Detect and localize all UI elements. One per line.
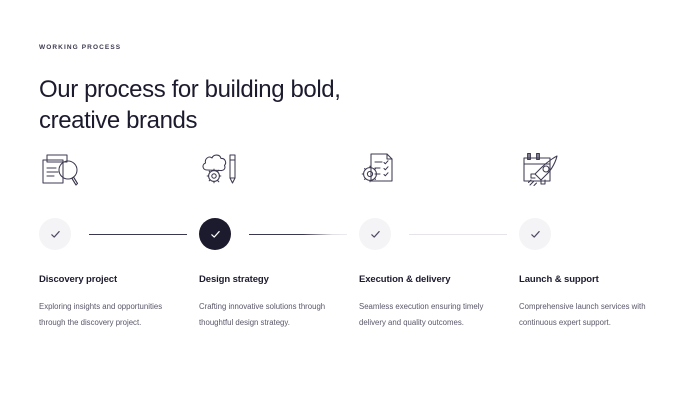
headline-line-1: Our process for building bold, [39, 74, 459, 106]
step-title: Execution & delivery [359, 274, 503, 285]
step-marker-row [359, 218, 503, 250]
step-marker-row [199, 218, 343, 250]
process-step-design[interactable]: Design strategy Crafting innovative solu… [199, 150, 359, 330]
step-description: Seamless execution ensuring timely deliv… [359, 299, 491, 329]
step-connector [249, 234, 347, 235]
step-check-circle[interactable] [39, 218, 71, 250]
working-process-section: WORKING PROCESS Our process for building… [0, 0, 692, 400]
cloud-gear-pencil-icon [199, 150, 343, 198]
step-check-circle[interactable] [519, 218, 551, 250]
check-icon [50, 229, 61, 240]
step-description: Comprehensive launch services with conti… [519, 299, 651, 329]
check-icon [370, 229, 381, 240]
document-magnifier-icon [39, 150, 183, 198]
section-eyebrow: WORKING PROCESS [39, 44, 692, 52]
check-icon [210, 229, 221, 240]
process-step-execution[interactable]: Execution & delivery Seamless execution … [359, 150, 519, 330]
step-marker-row [39, 218, 183, 250]
step-connector [89, 234, 187, 235]
step-check-circle[interactable] [199, 218, 231, 250]
step-marker-row [519, 218, 663, 250]
step-description: Crafting innovative solutions through th… [199, 299, 331, 329]
step-title: Design strategy [199, 274, 343, 285]
page-title: Our process for building bold, creative … [39, 74, 459, 137]
headline-line-2: creative brands [39, 105, 459, 137]
step-title: Discovery project [39, 274, 183, 285]
checklist-gear-icon [359, 150, 503, 198]
process-steps: Discovery project Exploring insights and… [39, 150, 679, 330]
process-step-launch[interactable]: Launch & support Comprehensive launch se… [519, 150, 679, 330]
step-description: Exploring insights and opportunities thr… [39, 299, 171, 329]
step-connector [409, 234, 507, 235]
check-icon [530, 229, 541, 240]
step-check-circle[interactable] [359, 218, 391, 250]
step-title: Launch & support [519, 274, 663, 285]
calendar-rocket-icon [519, 150, 663, 198]
process-step-discovery[interactable]: Discovery project Exploring insights and… [39, 150, 199, 330]
